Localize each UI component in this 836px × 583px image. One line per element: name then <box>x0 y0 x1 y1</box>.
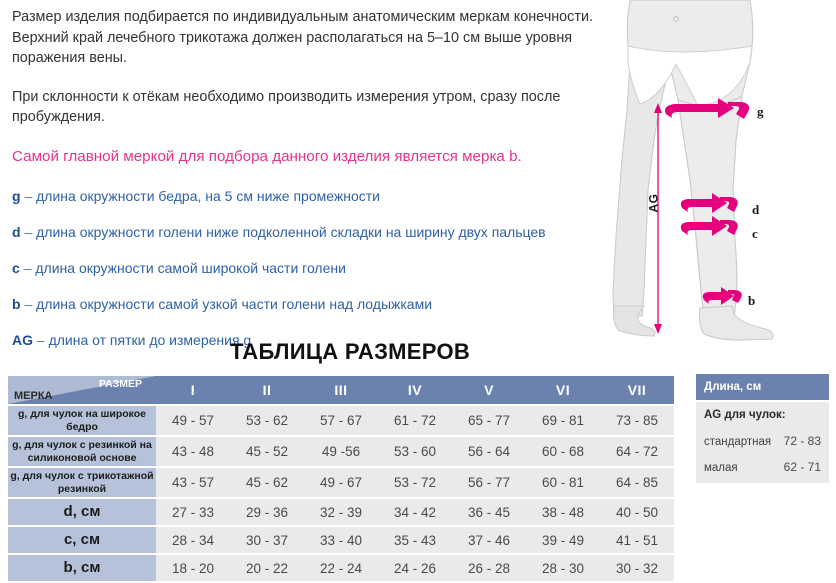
legs-figure-svg <box>600 0 836 348</box>
cell-r4-c5: 36 - 45 <box>452 499 526 525</box>
cell-r5-c5: 37 - 46 <box>452 527 526 553</box>
cell-r1-c2: 53 - 62 <box>230 406 304 435</box>
row-label-b: b, см <box>8 555 156 581</box>
cell-r4-c6: 38 - 48 <box>526 499 600 525</box>
cell-r5-c2: 30 - 37 <box>230 527 304 553</box>
definition-key-g: g <box>12 188 21 204</box>
definition-text-d: длина окружности голени ниже подколенной… <box>36 224 545 240</box>
cell-r6-c6: 28 - 30 <box>526 555 600 581</box>
cell-r5-c7: 41 - 51 <box>600 527 674 553</box>
cell-r5-c6: 39 - 49 <box>526 527 600 553</box>
length-row-standard-value: 72 - 83 <box>784 434 821 448</box>
definition-item-c: c – длина окружности самой широкой части… <box>12 259 612 278</box>
cell-r5-c4: 35 - 43 <box>378 527 452 553</box>
cell-r6-c2: 20 - 22 <box>230 555 304 581</box>
definition-item-d: d – длина окружности голени ниже подколе… <box>12 223 612 242</box>
cell-r6-c5: 26 - 28 <box>452 555 526 581</box>
size-table-header-row: РАЗМЕР МЕРКА I II III IV V VI VII <box>8 376 674 404</box>
cell-r5-c1: 28 - 34 <box>156 527 230 553</box>
figure-label-g: g <box>757 104 764 120</box>
definition-key-c: c <box>12 260 20 276</box>
cell-r4-c7: 40 - 50 <box>600 499 674 525</box>
size-table-corner-cell: РАЗМЕР МЕРКА <box>8 376 156 404</box>
cell-r4-c2: 29 - 36 <box>230 499 304 525</box>
cell-r1-c1: 49 - 57 <box>156 406 230 435</box>
cell-r2-c3: 49 -56 <box>304 437 378 466</box>
row-label-g-wide-thigh: g, для чулок на широкое бедро <box>8 406 156 435</box>
column-header-2: II <box>230 376 304 404</box>
definition-dash-d: – <box>24 224 32 240</box>
row-label-d: d, см <box>8 499 156 525</box>
intro-paragraph-2: При склонности к отёкам необходимо произ… <box>12 87 612 128</box>
key-measurement-highlight: Самой главной меркой для подбора данного… <box>12 146 612 167</box>
table-row: g, для чулок на широкое бедро 49 - 57 53… <box>8 406 674 435</box>
cell-r3-c5: 56 - 77 <box>452 468 526 497</box>
intro-paragraph-1: Размер изделия подбирается по индивидуал… <box>12 7 612 69</box>
column-header-1: I <box>156 376 230 404</box>
length-panel: Длина, см AG для чулок: стандартная 72 -… <box>696 374 829 483</box>
length-row-small: малая 62 - 71 <box>704 460 821 474</box>
cell-r2-c6: 60 - 68 <box>526 437 600 466</box>
cell-r2-c4: 53 - 60 <box>378 437 452 466</box>
table-row: g, для чулок с резинкой на силиконовой о… <box>8 437 674 466</box>
instructions-text-column: Размер изделия подбирается по индивидуал… <box>12 7 612 367</box>
cell-r2-c5: 56 - 64 <box>452 437 526 466</box>
cell-r3-c1: 43 - 57 <box>156 468 230 497</box>
definition-text-g: длина окружности бедра, на 5 см ниже про… <box>36 188 380 204</box>
size-table: РАЗМЕР МЕРКА I II III IV V VI VII g, для… <box>8 374 674 583</box>
row-label-g-knit-band: g, для чулок с трикотажной резинкой <box>8 468 156 497</box>
cell-r4-c3: 32 - 39 <box>304 499 378 525</box>
cell-r1-c7: 73 - 85 <box>600 406 674 435</box>
far-foot <box>614 306 656 336</box>
length-row-small-value: 62 - 71 <box>784 460 821 474</box>
column-header-6: VI <box>526 376 600 404</box>
cell-r4-c1: 27 - 33 <box>156 499 230 525</box>
cell-r6-c3: 22 - 24 <box>304 555 378 581</box>
row-label-g-silicone-band: g, для чулок с резинкой на силиконовой о… <box>8 437 156 466</box>
definition-dash-c: – <box>24 260 32 276</box>
definition-dash-b: – <box>24 296 32 312</box>
figure-label-b: b <box>748 293 755 309</box>
length-panel-title: AG для чулок: <box>704 409 821 421</box>
size-table-title: ТАБЛИЦА РАЗМЕРОВ <box>0 339 700 365</box>
definition-key-d: d <box>12 224 21 240</box>
cell-r2-c1: 43 - 48 <box>156 437 230 466</box>
cell-r2-c2: 45 - 52 <box>230 437 304 466</box>
length-row-standard-name: стандартная <box>704 436 771 448</box>
column-header-4: IV <box>378 376 452 404</box>
figure-label-ag: AG <box>647 194 661 213</box>
definition-text-b: длина окружности самой узкой части голен… <box>36 296 432 312</box>
table-row: b, см 18 - 20 20 - 22 22 - 24 24 - 26 26… <box>8 555 674 581</box>
cell-r3-c7: 64 - 85 <box>600 468 674 497</box>
near-foot <box>700 306 774 340</box>
column-header-7: VII <box>600 376 674 404</box>
length-row-standard: стандартная 72 - 83 <box>704 434 821 448</box>
length-panel-body: AG для чулок: стандартная 72 - 83 малая … <box>696 402 829 483</box>
cell-r1-c4: 61 - 72 <box>378 406 452 435</box>
row-label-c: c, см <box>8 527 156 553</box>
figure-label-d: d <box>752 202 759 218</box>
definition-dash-g: – <box>24 188 32 204</box>
legs-measurement-illustration: g d c b AG <box>600 0 836 348</box>
measurement-definitions-list: g – длина окружности бедра, на 5 см ниже… <box>12 187 612 350</box>
column-header-5: V <box>452 376 526 404</box>
cell-r3-c6: 60 - 81 <box>526 468 600 497</box>
length-row-small-name: малая <box>704 462 738 474</box>
definition-key-b: b <box>12 296 21 312</box>
cell-r4-c4: 34 - 42 <box>378 499 452 525</box>
length-panel-header: Длина, см <box>696 374 829 400</box>
corner-label-merka: МЕРКА <box>14 390 53 402</box>
column-header-3: III <box>304 376 378 404</box>
definition-text-c: длина окружности самой широкой части гол… <box>35 260 346 276</box>
corner-label-razmer: РАЗМЕР <box>99 378 142 390</box>
cell-r3-c4: 53 - 72 <box>378 468 452 497</box>
cell-r1-c3: 57 - 67 <box>304 406 378 435</box>
cell-r1-c6: 69 - 81 <box>526 406 600 435</box>
cell-r6-c1: 18 - 20 <box>156 555 230 581</box>
cell-r3-c3: 49 - 67 <box>304 468 378 497</box>
table-row: c, см 28 - 34 30 - 37 33 - 40 35 - 43 37… <box>8 527 674 553</box>
definition-item-b: b – длина окружности самой узкой части г… <box>12 295 612 314</box>
cell-r6-c7: 30 - 32 <box>600 555 674 581</box>
table-row: g, для чулок с трикотажной резинкой 43 -… <box>8 468 674 497</box>
cell-r2-c7: 64 - 72 <box>600 437 674 466</box>
cell-r6-c4: 24 - 26 <box>378 555 452 581</box>
cell-r3-c2: 45 - 62 <box>230 468 304 497</box>
table-row: d, см 27 - 33 29 - 36 32 - 39 34 - 42 36… <box>8 499 674 525</box>
definition-item-g: g – длина окружности бедра, на 5 см ниже… <box>12 187 612 206</box>
cell-r5-c3: 33 - 40 <box>304 527 378 553</box>
figure-label-c: c <box>752 226 758 242</box>
ag-vertical-arrow <box>654 103 662 334</box>
cell-r1-c5: 65 - 77 <box>452 406 526 435</box>
